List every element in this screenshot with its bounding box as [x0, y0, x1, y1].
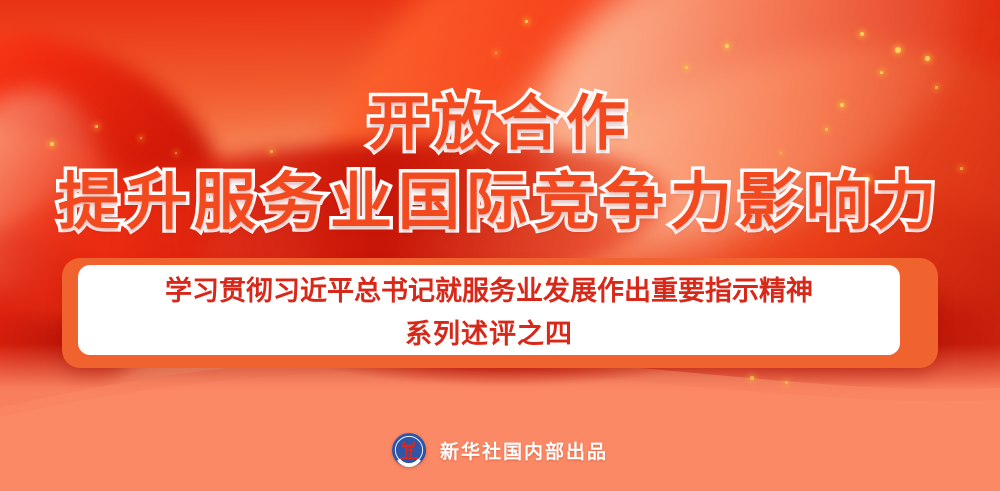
subtitle-card: 学习贯彻习近平总书记就服务业发展作出重要指示精神 系列述评之四 [78, 265, 900, 355]
main-title: 开放合作 提升服务业国际竞争力影响力 [0, 92, 1000, 236]
title-line-2: 提升服务业国际竞争力影响力 [0, 169, 1000, 236]
sparkle-dot [860, 32, 864, 36]
sparkle-dot [495, 52, 497, 54]
subtitle-line-2: 系列述评之四 [405, 312, 573, 351]
subtitle-line-1: 学习贯彻习近平总书记就服务业发展作出重要指示精神 [165, 269, 813, 308]
xinhua-agency-logo-icon [392, 433, 426, 467]
poster-banner: 开放合作 提升服务业国际竞争力影响力 学习贯彻习近平总书记就服务业发展作出重要指… [0, 0, 1000, 491]
footer-text: 新华社国内部出品 [440, 437, 608, 464]
sparkle-dot [935, 86, 938, 89]
footer: 新华社国内部出品 [0, 433, 1000, 467]
sparkle-dot [525, 20, 528, 23]
sparkle-dot [785, 381, 788, 384]
title-line-1: 开放合作 [0, 92, 1000, 157]
sparkle-dot [895, 47, 901, 53]
sparkle-dot [750, 376, 754, 380]
